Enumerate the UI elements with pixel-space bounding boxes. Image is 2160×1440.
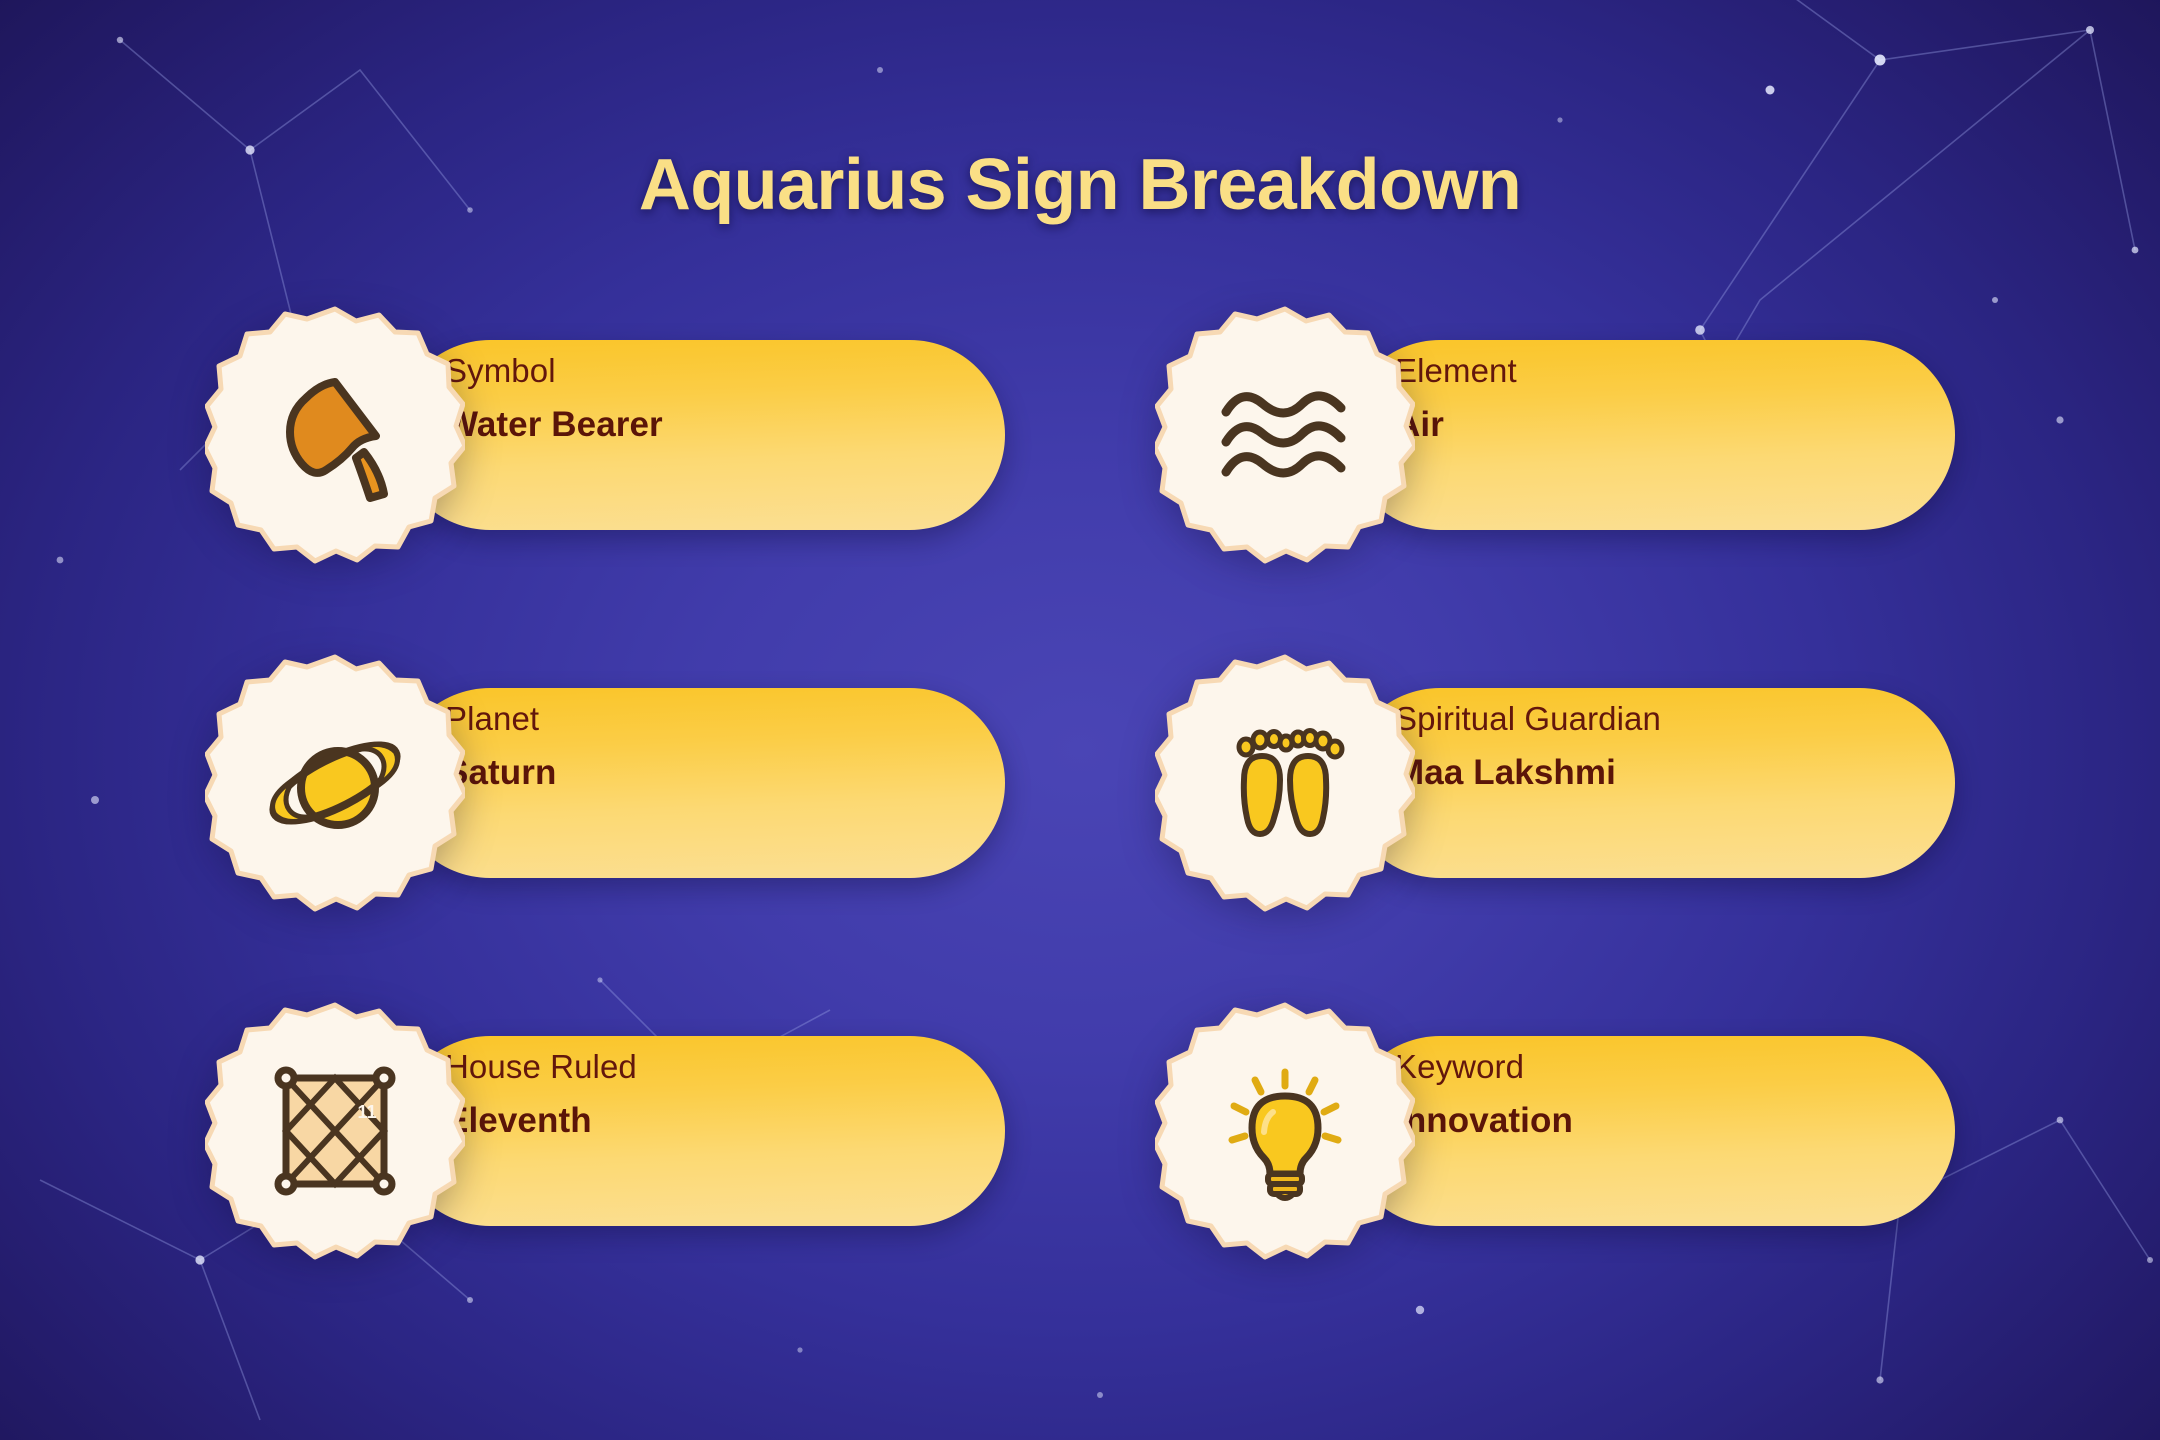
card-text: Planet Saturn	[445, 702, 1005, 790]
card-label: Element	[1395, 354, 1955, 387]
birth-chart-house-icon: 11	[257, 1053, 413, 1209]
lightbulb-icon	[1207, 1053, 1363, 1209]
card-value: Saturn	[445, 755, 1005, 790]
saturn-planet-icon	[257, 705, 413, 861]
info-card-symbol[interactable]: Symbol Water Bearer	[205, 320, 1005, 550]
card-value: Air	[1395, 407, 1955, 442]
card-text: Element Air	[1395, 354, 1955, 442]
card-text: Keyword Innovation	[1395, 1050, 1955, 1138]
card-value: Maa Lakshmi	[1395, 755, 1955, 790]
card-text: Symbol Water Bearer	[445, 354, 1005, 442]
card-label: Spiritual Guardian	[1395, 702, 1955, 735]
card-text: Spiritual Guardian Maa Lakshmi	[1395, 702, 1955, 790]
page-title: Aquarius Sign Breakdown	[639, 144, 1521, 226]
card-value: Water Bearer	[445, 407, 1005, 442]
infographic-canvas: Aquarius Sign Breakdown Symbol Water Bea…	[0, 0, 2160, 1440]
card-value: Innovation	[1395, 1103, 1955, 1138]
aquarius-waves-icon	[1207, 357, 1363, 513]
info-card-keyword[interactable]: Keyword Innovation	[1155, 1016, 1955, 1246]
house-number-label: 11	[357, 1102, 376, 1122]
info-card-element[interactable]: Element Air	[1155, 320, 1955, 550]
info-card-planet[interactable]: Planet Saturn	[205, 668, 1005, 898]
card-label: Planet	[445, 702, 1005, 735]
card-text: House Ruled Eleventh	[445, 1050, 1005, 1138]
info-card-house-ruled[interactable]: House Ruled Eleventh	[205, 1016, 1005, 1246]
divine-footprints-icon	[1207, 705, 1363, 861]
card-value: Eleventh	[445, 1103, 1005, 1138]
water-pitcher-icon	[257, 357, 413, 513]
card-label: Keyword	[1395, 1050, 1955, 1083]
card-label: House Ruled	[445, 1050, 1005, 1083]
info-card-spiritual-guardian[interactable]: Spiritual Guardian Maa Lakshmi	[1155, 668, 1955, 898]
card-label: Symbol	[445, 354, 1005, 387]
cards-grid: Symbol Water Bearer Element Air	[0, 320, 2160, 1380]
page-title-container: Aquarius Sign Breakdown	[0, 96, 2160, 274]
